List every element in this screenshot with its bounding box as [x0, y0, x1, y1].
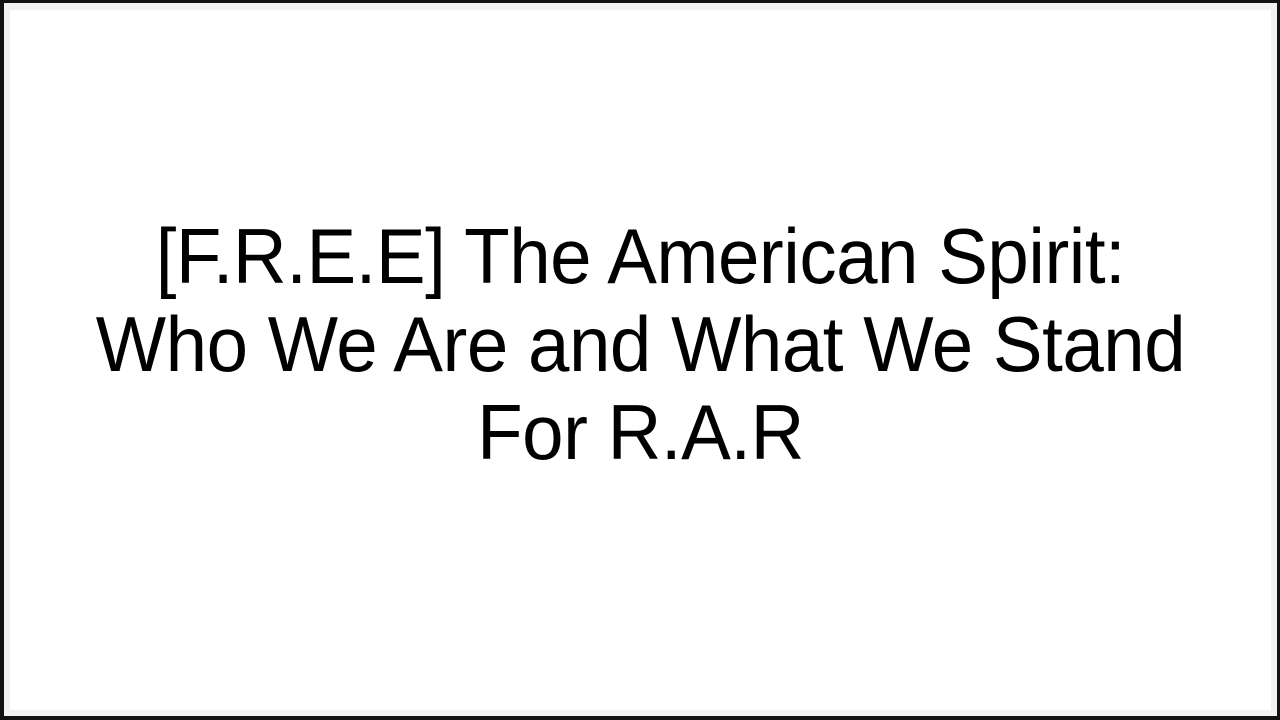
frame-inset-bottom [4, 710, 1277, 716]
title-line-3: For R.A.R [48, 388, 1233, 476]
title-line-1: [F.R.E.E] The American Spirit: [48, 212, 1233, 300]
frame-border-bottom [0, 716, 1280, 720]
screenshot-root: [F.R.E.E] The American Spirit: Who We Ar… [0, 0, 1280, 720]
title-line-2: Who We Are and What We Stand [48, 300, 1233, 388]
frame-border-left [0, 0, 4, 720]
frame-border-top [0, 0, 1280, 3]
content-canvas: [F.R.E.E] The American Spirit: Who We Ar… [10, 10, 1271, 710]
title-card-text-block: [F.R.E.E] The American Spirit: Who We Ar… [10, 212, 1271, 476]
frame-inset-top [4, 3, 1277, 10]
frame-inset-right [1271, 3, 1277, 716]
